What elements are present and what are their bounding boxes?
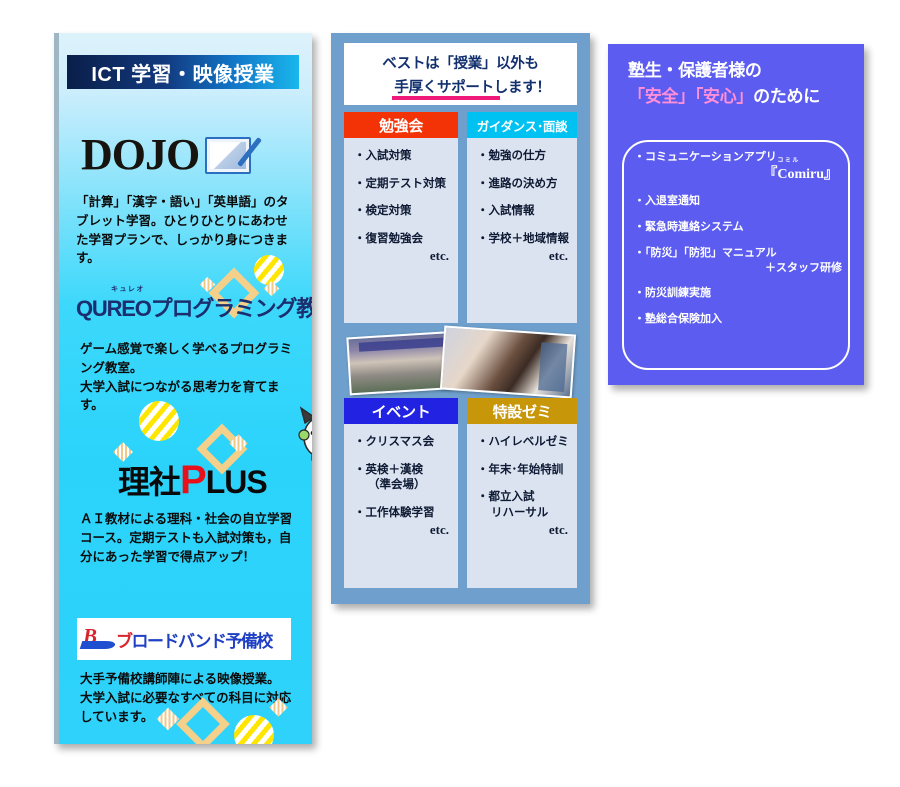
card-event-body: ・クリスマス会 ・英検＋漢検 （準会場） ・工作体験学習 etc.	[344, 424, 458, 547]
list-item-sub: （準会場）	[354, 478, 458, 494]
card-event[interactable]: イベント ・クリスマス会 ・英検＋漢検 （準会場） ・工作体験学習 etc.	[344, 398, 458, 588]
safety-item-0-text: ・コミュニケーションアプリ	[634, 151, 777, 163]
list-item: ・復習勉強会	[354, 232, 458, 248]
card-event-heading: イベント	[344, 398, 458, 424]
safety-items-box: ・コミュニケーションアプリ コ ミ ル 『Comiru』 ・入退室通知 ・緊急時…	[622, 140, 850, 370]
dojo-logo-text: DOJO	[81, 133, 199, 177]
right-panel-safety: 塾生・保護者様の 「安全」「安心」のために ・コミュニケーションアプリ コ ミ …	[608, 44, 864, 385]
qureo-description: ゲーム感覚で楽しく学べるプログラミング教室。 大学入試につながる思考力を育てます…	[80, 340, 298, 415]
safety-title-tameni: のために	[753, 87, 820, 106]
safety-title-anzen: 「安全」	[628, 87, 695, 106]
risha-plus-logo: 理社PLUS	[118, 457, 267, 503]
tablet-icon	[205, 137, 251, 174]
safety-item-3-sub: ＋スタッフ研修	[634, 262, 846, 276]
list-item: ・英検＋漢検	[354, 463, 458, 479]
card-guidance-mendan-etc: etc.	[477, 247, 577, 265]
risha-plus-prefix: 理社	[118, 464, 180, 500]
card-tokusetsu-zemi-heading: 特設ゼミ	[467, 398, 577, 424]
support-title-underline	[392, 96, 500, 100]
list-item: ・クリスマス会	[354, 435, 458, 451]
risha-plus-accent: P	[180, 458, 206, 502]
list-item-sub: リハーサル	[477, 506, 577, 522]
broadband-logo-text-accent: ブ	[116, 632, 132, 651]
safety-item-0-sub: コ ミ ル 『Comiru』	[634, 166, 846, 184]
list-item: ・定期テスト対策	[354, 177, 458, 193]
photo-craft-workshop	[440, 325, 576, 398]
list-item: ・勉強の仕方	[477, 149, 577, 165]
list-item: ・進路の決め方	[477, 177, 577, 193]
list-item: ・学校＋地域情報	[477, 232, 577, 248]
qureo-logo-ruby: キュレオ	[111, 284, 145, 294]
list-item: ・工作体験学習	[354, 506, 458, 522]
decor-circle-stripe-1	[254, 255, 284, 285]
qureo-logo: キュレオ QUREOプログラミング教室	[76, 291, 292, 323]
dojo-logo: DOJO	[81, 131, 291, 179]
support-title-line2: 手厚くサポートします！	[370, 76, 550, 97]
left-panel-ict-learning: ICT 学習・映像授業 DOJO 「計算」「漢字・語い」「英単語」のタブレット学…	[54, 33, 312, 744]
list-item: ・コミュニケーションアプリ コ ミ ル 『Comiru』	[634, 151, 846, 183]
poster-canvas: ICT 学習・映像授業 DOJO 「計算」「漢字・語い」「英単語」のタブレット学…	[0, 0, 900, 787]
risha-plus-description: ＡＩ教材による理科・社会の自立学習コース。定期テストも入試対策も，自分にあった学…	[80, 510, 298, 566]
list-item: ・防災訓練実施	[634, 287, 846, 301]
safety-title: 塾生・保護者様の 「安全」「安心」のために	[628, 58, 850, 111]
broadband-yobiko-logo: ブロードバンド予備校	[77, 618, 291, 660]
qureo-logo-text: QUREOプログラミング教室	[76, 291, 292, 323]
photo-strip	[344, 330, 577, 392]
card-guidance-mendan[interactable]: ガイダンス･面談 ・勉強の仕方 ・進路の決め方 ・入試情報 ・学校＋地域情報 e…	[467, 112, 577, 323]
support-title-line2-text: 手厚くサポートします！	[394, 80, 550, 96]
mascot-icon	[292, 403, 312, 465]
broadband-swoosh-icon	[81, 626, 115, 652]
card-event-etc: etc.	[354, 521, 458, 539]
support-title-box: ベストは「授業」以外も 手厚くサポートします！	[344, 43, 577, 105]
card-guidance-mendan-body: ・勉強の仕方 ・進路の決め方 ・入試情報 ・学校＋地域情報 etc.	[467, 138, 577, 273]
card-benkyokai-body: ・入試対策 ・定期テスト対策 ・検定対策 ・復習勉強会 etc.	[344, 138, 458, 273]
card-tokusetsu-zemi-etc: etc.	[477, 521, 577, 539]
card-guidance-mendan-heading: ガイダンス･面談	[467, 112, 577, 138]
list-item: ・塾総合保険加入	[634, 313, 846, 327]
safety-title-anshin: 「安心」	[695, 87, 753, 106]
broadband-logo-text-main: ロードバンド予備校	[132, 632, 272, 651]
list-item: ・年末･年始特訓	[477, 463, 577, 479]
card-tokusetsu-zemi-body: ・ハイレベルゼミ ・年末･年始特訓 ・都立入試 リハーサル etc.	[467, 424, 577, 547]
card-benkyokai[interactable]: 勉強会 ・入試対策 ・定期テスト対策 ・検定対策 ・復習勉強会 etc.	[344, 112, 458, 323]
panel-left-edge	[54, 33, 59, 744]
safety-title-line1: 塾生・保護者様の	[628, 58, 850, 84]
comiru-ruby: コ ミ ル	[777, 158, 798, 166]
card-benkyokai-etc: etc.	[354, 247, 458, 265]
safety-title-line2: 「安全」「安心」のために	[628, 84, 850, 110]
comiru-app-name: コ ミ ル 『Comiru』	[763, 166, 838, 184]
support-title-line1: ベストは「授業」以外も	[382, 52, 539, 73]
decor-circle-stripe-2	[139, 401, 179, 441]
list-item: ・「防災」「防犯」マニュアル ＋スタッフ研修	[634, 247, 846, 276]
risha-plus-suffix: LUS	[206, 464, 267, 500]
safety-items-list: ・コミュニケーションアプリ コ ミ ル 『Comiru』 ・入退室通知 ・緊急時…	[634, 151, 846, 339]
ict-header-banner: ICT 学習・映像授業	[67, 55, 299, 89]
middle-panel-support: ベストは「授業」以外も 手厚くサポートします！ 勉強会 ・入試対策 ・定期テスト…	[331, 33, 590, 604]
list-item: ・ハイレベルゼミ	[477, 435, 577, 451]
comiru-label: 『Comiru』	[763, 167, 838, 182]
card-benkyokai-heading: 勉強会	[344, 112, 458, 138]
list-item: ・検定対策	[354, 204, 458, 220]
pen-icon	[237, 137, 262, 167]
list-item: ・入退室通知	[634, 195, 846, 209]
list-item: ・入試情報	[477, 204, 577, 220]
list-item: ・緊急時連絡システム	[634, 221, 846, 235]
card-tokusetsu-zemi[interactable]: 特設ゼミ ・ハイレベルゼミ ・年末･年始特訓 ・都立入試 リハーサル etc.	[467, 398, 577, 588]
safety-item-3-text: ・「防災」「防犯」マニュアル	[634, 247, 777, 259]
list-item: ・都立入試	[477, 490, 577, 506]
broadband-logo-text: ブロードバンド予備校	[116, 627, 272, 652]
list-item: ・入試対策	[354, 149, 458, 165]
